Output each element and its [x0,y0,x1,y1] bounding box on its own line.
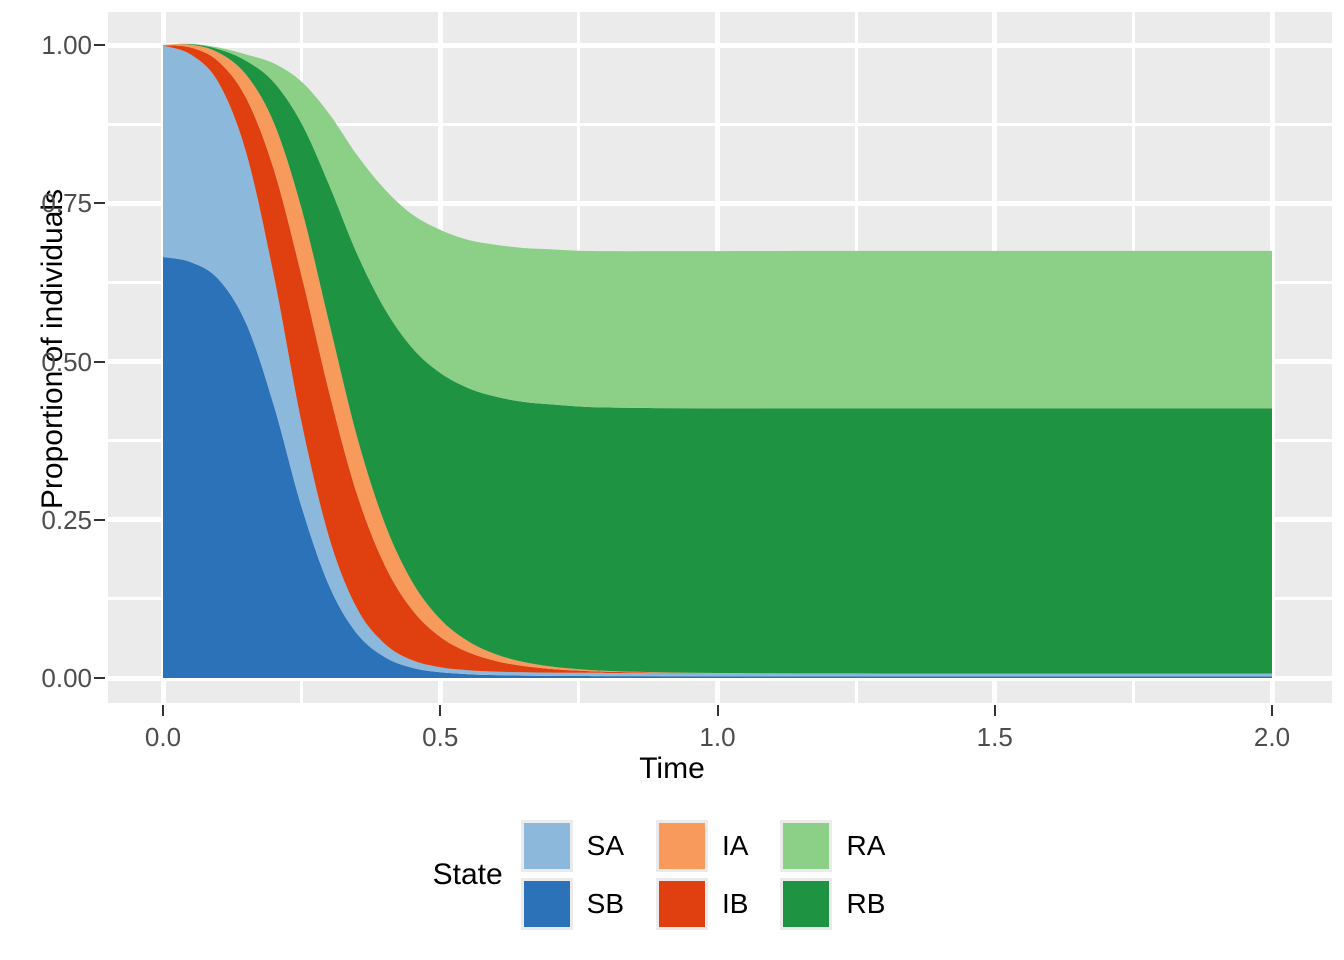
y-tick-label-4: 1.00 [6,32,92,58]
legend-key-sa [521,820,573,872]
chart-root: Proportion of individuals 0.000.250.500.… [0,0,1344,960]
legend-swatch-ia [659,823,705,869]
y-tick-mark-4 [94,44,105,46]
legend-swatch-ra [783,823,829,869]
legend-key-sb [521,878,573,930]
legend-label-rb: RB [846,888,885,920]
legend: State SAIARASBIBRB [0,818,1344,932]
x-tick-label-4: 2.0 [1212,722,1332,752]
x-tick-mark-3 [994,705,996,716]
legend-key-ib [656,878,708,930]
x-tick-mark-1 [439,705,441,716]
legend-label-ra: RA [846,830,885,862]
x-tick-label-1: 0.5 [380,722,500,752]
legend-items: SAIARASBIBRB [521,818,912,932]
y-tick-mark-0 [94,677,105,679]
legend-item-ib[interactable]: IB [656,876,774,932]
legend-swatch-rb [783,881,829,927]
x-tick-label-3: 1.5 [935,722,1055,752]
y-tick-label-2: 0.50 [6,349,92,375]
x-tick-mark-2 [717,705,719,716]
y-tick-mark-2 [94,361,105,363]
y-tick-label-1: 0.25 [6,507,92,533]
legend-item-rb[interactable]: RB [780,876,911,932]
y-axis-ticks: 0.000.250.500.751.00 [0,0,92,720]
y-tick-label-3: 0.75 [6,190,92,216]
legend-title: State [433,858,503,892]
legend-swatch-sb [524,881,570,927]
stacked-area-plot [108,12,1332,703]
legend-item-sa[interactable]: SA [521,818,650,874]
legend-label-sb: SB [587,888,624,920]
legend-key-rb [780,878,832,930]
x-tick-mark-4 [1271,705,1273,716]
legend-item-sb[interactable]: SB [521,876,650,932]
legend-key-ra [780,820,832,872]
y-tick-mark-1 [94,519,105,521]
plot-panel [108,12,1332,703]
legend-item-ra[interactable]: RA [780,818,911,874]
legend-label-ia: IA [722,830,748,862]
y-tick-mark-3 [94,202,105,204]
x-tick-mark-0 [162,705,164,716]
x-axis-title: Time [0,752,1344,786]
legend-swatch-ib [659,881,705,927]
legend-key-ia [656,820,708,872]
legend-item-ia[interactable]: IA [656,818,774,874]
legend-label-ib: IB [722,888,748,920]
x-tick-label-0: 0.0 [103,722,223,752]
legend-label-sa: SA [587,830,624,862]
legend-swatch-sa [524,823,570,869]
y-tick-label-0: 0.00 [6,665,92,691]
x-tick-label-2: 1.0 [658,722,778,752]
